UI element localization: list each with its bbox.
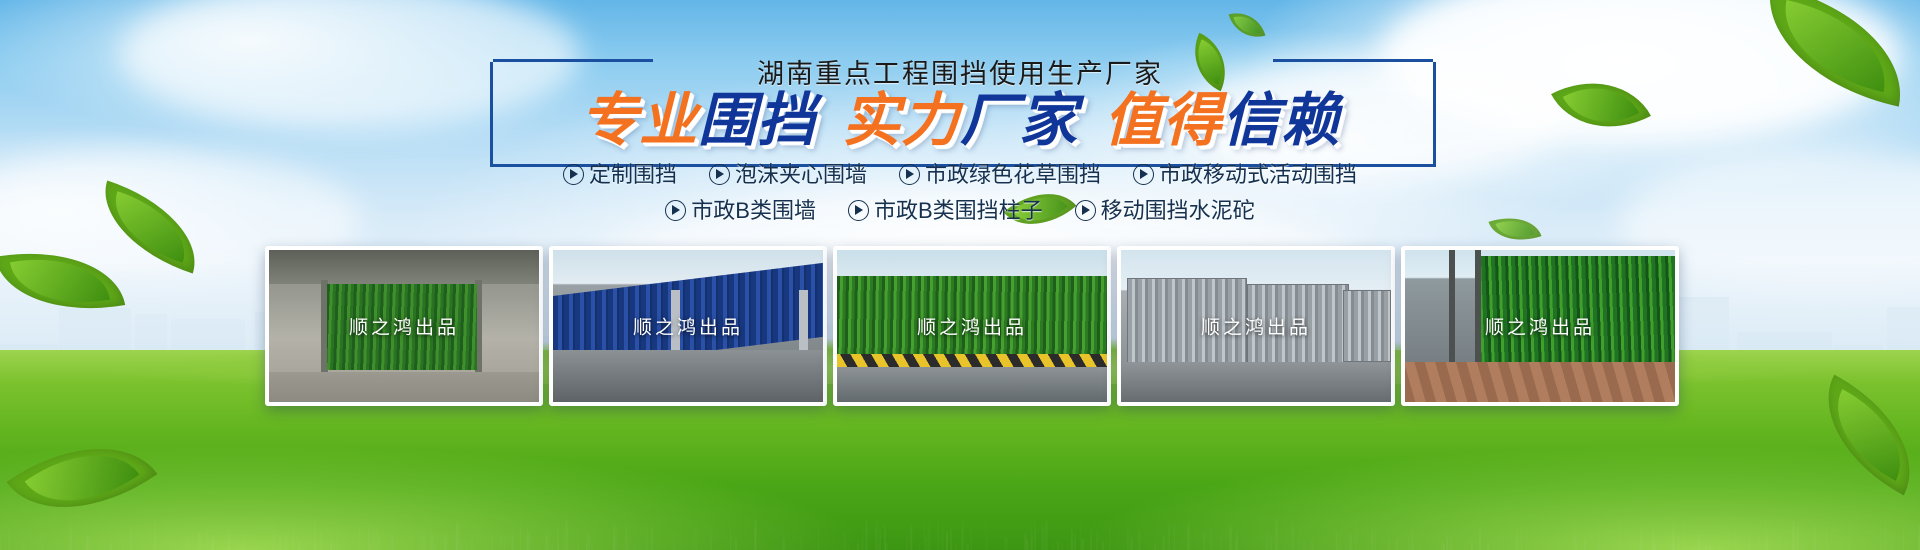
grass-blade [1275,519,1278,550]
grass-blade [309,518,311,550]
grass-blade [1163,535,1165,550]
grass-blade [651,524,653,550]
grass-blade [1187,522,1190,550]
grass-blade [500,534,502,550]
grass-blade [141,533,142,550]
grass-blade [646,526,648,550]
grass-blade [629,522,631,550]
grass-blade [1826,525,1827,550]
grass-blade [1443,544,1445,550]
feature-item[interactable]: 市政绿色花草围挡 [899,160,1101,190]
grass-blade [1073,539,1075,550]
grass-blade [411,531,413,550]
grass-blade [782,537,785,550]
grass-blade [869,520,870,550]
grass-blade [848,541,849,550]
grass-blade [198,531,201,550]
grass-blade [334,543,335,550]
grass-blade [1229,524,1232,550]
grass-blade [1168,521,1170,550]
grass-blade [130,529,132,550]
grass-blade [498,530,500,550]
grass-blade [1371,524,1373,550]
grass-blade [268,530,269,550]
feature-item[interactable]: 泡沫夹心围墙 [709,160,867,190]
grass-blade [1270,536,1272,550]
photo-watermark: 顺之鸿出品 [837,313,1107,340]
grass-blade [710,525,712,550]
grass-blade [8,528,10,550]
banner-stage: 湖南重点工程围挡使用生产厂家 专业围挡实力厂家值得信赖 定制围挡泡沫夹心围墙市政… [0,0,1920,550]
grass-blade [491,535,493,550]
grass-blade [1006,536,1008,550]
grass-blade [1813,523,1816,550]
feature-item-label: 泡沫夹心围墙 [735,162,867,187]
grass-blade [586,526,587,550]
grass-blade [359,521,360,550]
grass-blade [1034,522,1036,550]
play-circle-icon [563,164,584,185]
grass-blade [800,535,803,550]
grass-blade [154,520,156,550]
grass-blade [1236,530,1238,550]
headline-word: 围挡 [698,92,816,150]
product-photo[interactable]: 顺之鸿出品 [833,246,1111,406]
grass-blade [843,531,846,550]
grass-blade [336,520,337,550]
grass-blade [966,544,969,550]
headline-word: 专业 [580,92,698,150]
grass-blade [1334,529,1337,550]
feature-item[interactable]: 定制围挡 [563,160,677,190]
play-circle-icon [899,164,920,185]
grass-blade [1903,525,1904,550]
grass-blade [1080,519,1082,550]
grass-blade [285,529,287,550]
grass-blade [187,536,189,550]
play-circle-icon [848,200,869,221]
grass-blade [422,525,425,550]
grass-blade [1709,540,1711,550]
feature-item[interactable]: 市政移动式活动围挡 [1133,160,1357,190]
grass-blade [1419,540,1420,550]
grass-blade [1310,540,1313,550]
headline-word: 信赖 [1222,92,1340,150]
grass-blade [634,541,635,550]
play-circle-icon [709,164,730,185]
feature-item-label: 市政B类围墙 [691,198,816,223]
grass-blade [1130,536,1133,550]
grass-blade [927,528,930,550]
grass-blade [1388,539,1390,550]
grass-blade [1749,533,1750,550]
grass-blade [1910,529,1913,550]
grass-blade [1718,541,1720,550]
grass-blade [1778,526,1781,550]
product-photo[interactable]: 顺之鸿出品 [265,246,543,406]
grass-blade [551,544,553,550]
grass-blade [623,541,626,550]
grass-blade [298,542,301,550]
grass-blade [527,533,530,550]
grass-blade [1542,541,1544,550]
grass-blade [23,542,25,550]
grass-blade [110,541,112,550]
grass-blade [166,521,169,550]
grass-blade [504,536,505,550]
grass-blade [1796,523,1799,550]
grass-blade [228,531,230,550]
grass-blade [1683,519,1685,550]
grass-blade [577,540,579,550]
grass-blade [1045,520,1048,550]
grass-blade [695,521,697,550]
grass-blade [1792,520,1795,550]
grass-blade [272,518,275,550]
feature-item-label: 市政B类围挡柱子 [874,198,1043,223]
grass-blade [87,535,90,550]
grass-blade [1891,530,1892,550]
grass-blade [1266,530,1268,550]
grass-blade [520,521,521,550]
headline-block: 湖南重点工程围挡使用生产厂家 专业围挡实力厂家值得信赖 定制围挡泡沫夹心围墙市政… [0,0,1920,250]
grass-blade [1203,530,1205,550]
grass-blade [730,527,731,550]
grass-blade [1303,537,1305,550]
grass-blade [861,529,864,550]
grass-blade [444,533,447,550]
grass-blade [885,542,888,550]
grass-blade [1041,525,1044,550]
grass-blade [185,536,186,550]
grass-blade [69,521,72,550]
grass-blade [1174,522,1175,550]
grass-blade [1396,537,1398,550]
photo-watermark: 顺之鸿出品 [269,313,539,340]
play-circle-icon [1075,200,1096,221]
grass-blade [1479,526,1481,550]
grass-blade [759,520,761,550]
grass-blade [434,543,436,550]
grass-blade [906,537,908,550]
grass-blade [1138,530,1141,550]
grass-blade [1880,523,1882,550]
grass-blade [1643,533,1645,550]
product-photo[interactable]: 顺之鸿出品 [549,246,827,406]
photo-watermark: 顺之鸿出品 [1121,313,1391,340]
grass-blade [1210,528,1212,550]
grass-blade [1057,540,1059,550]
grass-blade [1127,526,1129,550]
grass-blade [588,530,590,550]
feature-item[interactable]: 移动围挡水泥砣 [1075,196,1255,226]
feature-item-label: 市政绿色花草围挡 [925,162,1101,187]
grass-blade [391,533,393,550]
grass-blade [1411,528,1413,550]
headline-word: 实力 [842,92,960,150]
grass-blade [1471,539,1473,550]
grass-blade [368,524,370,550]
grass-blade [1599,529,1600,550]
grass-blade [670,536,673,550]
main-headline: 专业围挡实力厂家值得信赖 [0,92,1920,150]
grass-blade [123,539,124,550]
grass-blade [1584,537,1586,550]
grass-blade [1067,542,1069,550]
feature-item-label: 定制围挡 [589,162,677,187]
grass-blade [378,531,380,550]
grass-blade [1070,537,1073,550]
feature-item-label: 移动围挡水泥砣 [1101,198,1255,223]
grass-blade [1109,522,1111,550]
feature-row: 定制围挡泡沫夹心围墙市政绿色花草围挡市政移动式活动围挡 [0,160,1920,190]
grass-blade [1449,534,1452,550]
grass-blade [865,519,868,550]
grass-blade [1678,531,1679,550]
grass-blade [1884,520,1887,550]
grass-blade [562,532,565,550]
grass-blade [1916,531,1917,550]
grass-blade [1084,521,1085,550]
headline-word: 值得 [1104,92,1222,150]
grass-blade [1408,535,1410,550]
grass-blade [1486,542,1488,550]
grass-blade [242,519,245,550]
feature-item[interactable]: 市政B类围挡柱子 [848,196,1043,226]
grass-blade [1374,526,1376,550]
grass-blade [1299,525,1300,550]
grass-blade [338,541,341,550]
grass-blade [673,531,676,550]
photo-watermark: 顺之鸿出品 [1405,313,1675,340]
grass-blade [950,527,952,550]
grass-blade [122,534,123,550]
grass-blade [1705,539,1707,550]
grass-blade [471,535,473,550]
feature-item[interactable]: 市政B类围墙 [665,196,816,226]
grass-blade [1861,537,1863,550]
grass-blade [1061,543,1063,550]
headline-word: 厂家 [960,92,1078,150]
grass-blade [548,522,550,550]
grass-blade [910,523,912,550]
grass-blade [320,529,322,550]
grass-blade [1467,540,1469,550]
grass-blade [591,540,593,550]
grass-blade [615,524,617,550]
grass-blade [1654,530,1655,550]
grass-blade [1158,537,1159,550]
grass-blade [1766,531,1768,550]
grass-blade [1052,544,1054,550]
grass-blade [1090,529,1092,550]
grass-blade [1102,541,1104,550]
grass-blade [878,543,880,550]
grass-blade [461,541,463,550]
product-photo[interactable]: 顺之鸿出品 [1117,246,1395,406]
grass-blade [942,524,944,550]
grass-blade [1284,541,1286,550]
grass-blade [755,518,757,550]
grass-blade [565,518,568,550]
grass-blade [206,523,208,550]
grass-blade [946,530,948,550]
feature-row: 市政B类围墙市政B类围挡柱子移动围挡水泥砣 [0,196,1920,226]
grass-blade [57,539,58,550]
grass-blade [545,531,548,550]
grass-blade [1355,520,1357,550]
grass-blade [1526,520,1528,550]
grass-blade [1349,533,1352,550]
grass-blade [0,535,1,550]
grass-blade [1345,524,1348,550]
grass-blade [961,522,964,550]
grass-blade [1291,519,1294,550]
grass-blade [985,518,988,550]
grass-blade [1154,541,1156,550]
grass-blade [1758,521,1759,550]
grass-blade [1446,531,1448,550]
grass-blade [1220,534,1222,550]
sub-headline: 湖南重点工程围挡使用生产厂家 [0,52,1920,91]
play-circle-icon [1133,164,1154,185]
grass-blade [212,535,214,550]
product-photo-strip: 顺之鸿出品 顺之鸿出品 顺之鸿出品 [0,246,1920,406]
grass-blade [1669,543,1672,550]
grass-blade [735,537,737,550]
grass-blade [1030,520,1032,550]
grass-blade [41,530,43,550]
grass-blade [1521,523,1522,550]
grass-blade [279,538,281,550]
grass-blade [857,542,859,550]
photo-watermark: 顺之鸿出品 [553,313,823,340]
grass-blade [970,527,972,550]
grass-blade [1734,528,1737,550]
play-circle-icon [665,200,686,221]
grass-blade [818,522,819,550]
grass-blade [1516,528,1518,550]
grass-blade [1340,527,1341,550]
feature-list: 定制围挡泡沫夹心围墙市政绿色花草围挡市政移动式活动围挡市政B类围墙市政B类围挡柱… [0,160,1920,232]
grass-blade [293,525,294,550]
grass-blade [1575,534,1577,550]
grass-blade [919,544,920,550]
grass-blade [1096,529,1098,550]
grass-blade [955,540,957,550]
feature-item-label: 市政移动式活动围挡 [1159,162,1357,187]
grass-blade [1026,539,1029,550]
grass-blade [1849,519,1850,550]
grass-blade [558,544,559,550]
grass-blade [331,529,333,550]
product-photo[interactable]: 顺之鸿出品 [1401,246,1679,406]
grass-blade [572,543,575,550]
